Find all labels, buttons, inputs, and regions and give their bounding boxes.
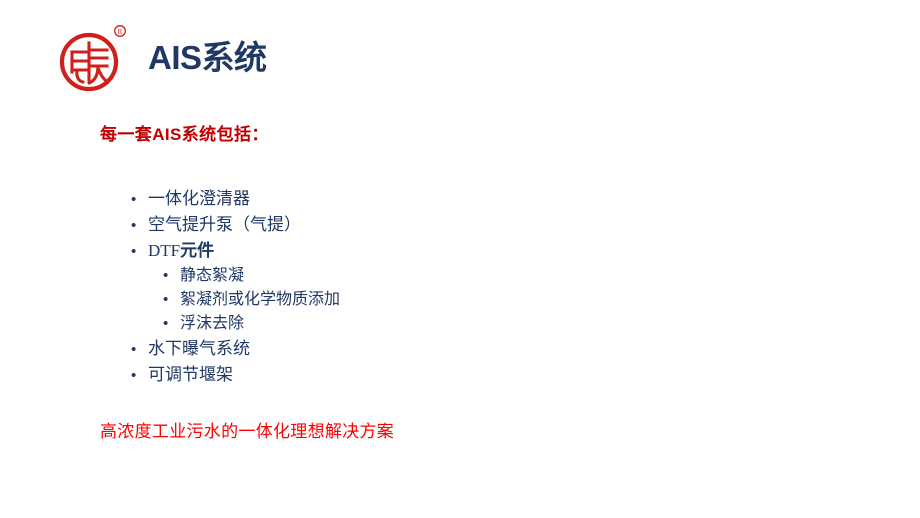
list-item: • 一体化澄清器 — [131, 186, 340, 212]
bullet-list: • 一体化澄清器 • 空气提升泵（气提） • DTF元件 • 静态絮凝 • 絮凝… — [131, 186, 340, 388]
header-lockup: R AIS系统 — [58, 22, 267, 94]
list-item-prefix: DTF — [148, 241, 180, 260]
list-item: • 浮沫去除 — [163, 312, 340, 336]
bullet-marker-icon: • — [131, 239, 148, 264]
slide-canvas: R AIS系统 每一套AIS系统包括： • 一体化澄清器 • 空气提升泵（气提）… — [0, 0, 920, 518]
list-item: • 可调节堰架 — [131, 362, 340, 388]
list-item-label-strong: 元件 — [180, 241, 214, 260]
list-item-label: 静态絮凝 — [180, 264, 244, 288]
bullet-marker-icon: • — [131, 337, 148, 362]
registered-trademark-icon: R — [115, 26, 126, 37]
tagline: 高浓度工业污水的一体化理想解决方案 — [100, 417, 394, 442]
bullet-marker-icon: • — [163, 288, 180, 312]
svg-text:R: R — [118, 28, 123, 36]
brand-title: AIS系统 — [148, 41, 267, 76]
list-item-label: 水下曝气系统 — [148, 336, 250, 361]
list-item-label: 可调节堰架 — [148, 362, 233, 387]
list-item: • 絮凝剂或化学物质添加 — [163, 288, 340, 312]
list-item-label: 空气提升泵（气提） — [148, 212, 301, 237]
list-item-label: 絮凝剂或化学物质添加 — [180, 288, 340, 312]
zhang-seal-logo-icon: R — [58, 22, 130, 94]
list-item-label: 浮沫去除 — [180, 312, 244, 336]
bullet-marker-icon: • — [131, 213, 148, 238]
list-item: • 静态絮凝 — [163, 264, 340, 288]
list-item: • DTF元件 — [131, 238, 340, 264]
bullet-marker-icon: • — [163, 312, 180, 336]
bullet-marker-icon: • — [131, 187, 148, 212]
list-item: • 水下曝气系统 — [131, 336, 340, 362]
list-item-label: DTF元件 — [148, 238, 214, 263]
list-item: • 空气提升泵（气提） — [131, 212, 340, 238]
bullet-marker-icon: • — [163, 264, 180, 288]
bullet-marker-icon: • — [131, 363, 148, 388]
list-item-label: 一体化澄清器 — [148, 186, 250, 211]
lead-heading: 每一套AIS系统包括： — [100, 120, 269, 145]
